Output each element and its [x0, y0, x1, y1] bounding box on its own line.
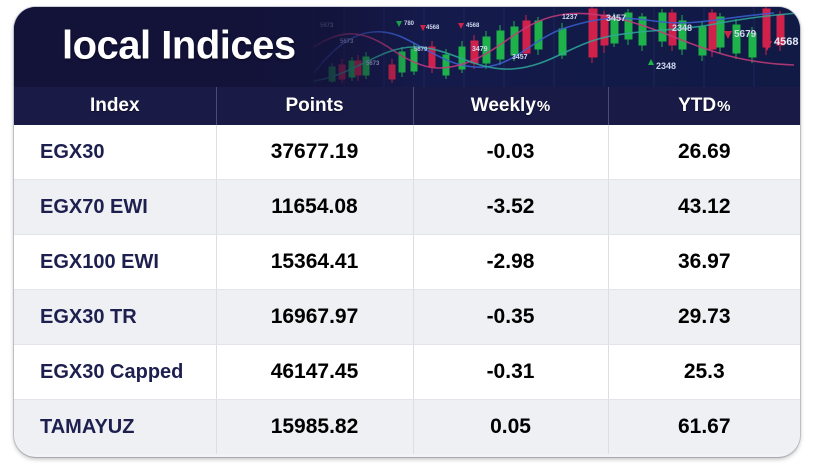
svg-text:4568: 4568: [426, 25, 440, 31]
svg-text:3479: 3479: [472, 46, 488, 53]
column-header-points[interactable]: Points: [216, 87, 413, 125]
column-header-index-label: Index: [90, 95, 140, 116]
cell-weekly: -2.98: [413, 235, 608, 290]
indices-table: Index Points Weekly% YTD% EGX30 37677.19…: [14, 87, 800, 454]
cell-ytd: 43.12: [608, 180, 800, 235]
cell-weekly: -0.03: [413, 125, 608, 180]
cell-index: EGX30 TR: [14, 290, 216, 345]
cell-ytd: 25.3: [608, 345, 800, 400]
table-row[interactable]: EGX100 EWI 15364.41 -2.98 36.97: [14, 235, 800, 290]
svg-text:4568: 4568: [466, 23, 480, 29]
cell-weekly: -3.52: [413, 180, 608, 235]
cell-index: TAMAYUZ: [14, 400, 216, 455]
cell-ytd: 29.73: [608, 290, 800, 345]
local-indices-card: 5673 5673 5673 780 4568 4568 5679 3479 3…: [14, 7, 800, 457]
cell-index: EGX30: [14, 125, 216, 180]
cell-points: 16967.97: [216, 290, 413, 345]
svg-text:5679: 5679: [414, 47, 428, 53]
table-row[interactable]: EGX70 EWI 11654.08 -3.52 43.12: [14, 180, 800, 235]
cell-weekly: -0.35: [413, 290, 608, 345]
cell-points: 11654.08: [216, 180, 413, 235]
column-header-weekly[interactable]: Weekly%: [413, 87, 608, 125]
column-header-points-label: Points: [285, 95, 343, 116]
table-row[interactable]: EGX30 Capped 46147.45 -0.31 25.3: [14, 345, 800, 400]
svg-text:3457: 3457: [606, 13, 626, 23]
cell-weekly: 0.05: [413, 400, 608, 455]
svg-text:3457: 3457: [512, 54, 528, 61]
cell-points: 15364.41: [216, 235, 413, 290]
cell-ytd: 26.69: [608, 125, 800, 180]
svg-text:5679: 5679: [734, 29, 757, 40]
cell-ytd: 36.97: [608, 235, 800, 290]
column-header-ytd[interactable]: YTD%: [608, 87, 800, 125]
banner: 5673 5673 5673 780 4568 4568 5679 3479 3…: [14, 7, 800, 87]
table-row[interactable]: EGX30 37677.19 -0.03 26.69: [14, 125, 800, 180]
cell-points: 37677.19: [216, 125, 413, 180]
cell-index: EGX70 EWI: [14, 180, 216, 235]
table-header-row: Index Points Weekly% YTD%: [14, 87, 800, 125]
column-header-weekly-label: Weekly: [471, 95, 536, 116]
svg-text:2348: 2348: [656, 61, 676, 71]
table-row[interactable]: EGX30 TR 16967.97 -0.35 29.73: [14, 290, 800, 345]
svg-text:1237: 1237: [562, 14, 578, 21]
table-row[interactable]: TAMAYUZ 15985.82 0.05 61.67: [14, 400, 800, 455]
column-header-index[interactable]: Index: [14, 87, 216, 125]
page-title: local Indices: [62, 24, 296, 69]
cell-index: EGX30 Capped: [14, 345, 216, 400]
column-header-ytd-label: YTD: [678, 95, 716, 116]
cell-index: EGX100 EWI: [14, 235, 216, 290]
svg-text:4568: 4568: [774, 36, 798, 48]
cell-points: 46147.45: [216, 345, 413, 400]
cell-points: 15985.82: [216, 400, 413, 455]
cell-weekly: -0.31: [413, 345, 608, 400]
cell-ytd: 61.67: [608, 400, 800, 455]
percent-symbol-weekly: %: [537, 98, 550, 115]
percent-symbol-ytd: %: [717, 98, 730, 115]
svg-text:2348: 2348: [672, 23, 692, 33]
